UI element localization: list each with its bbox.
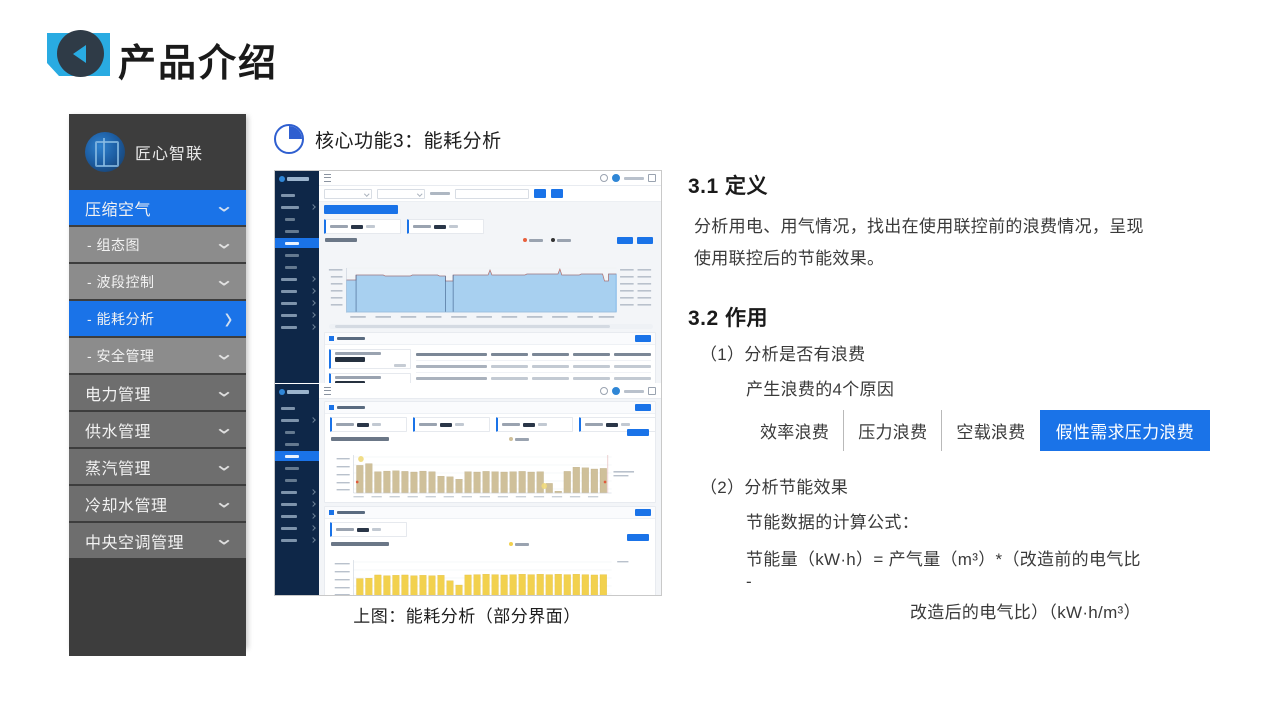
usage-item-1: （1）分析是否有浪费 xyxy=(700,340,1233,365)
pie-chart-icon xyxy=(274,124,304,154)
card-action-button[interactable] xyxy=(635,335,651,342)
product-nav-card: 匠心智联 压缩空气⌄- 组态图⌄- 波段控制⌄- 能耗分析›- 安全管理⌄电力管… xyxy=(69,114,246,647)
app-menu-item[interactable] xyxy=(275,523,319,533)
chevron-right-icon: › xyxy=(224,302,232,336)
nav-brand-label: 匠心智联 xyxy=(135,140,203,164)
tab-energy-analysis[interactable] xyxy=(324,205,398,214)
kpi-card xyxy=(324,219,401,234)
app-logo-icon xyxy=(279,176,285,182)
sidebar-item-label: - 组态图 xyxy=(87,235,140,255)
settings-icon[interactable] xyxy=(648,174,656,182)
app-sidebar-menu xyxy=(275,403,319,545)
energy-saving-card xyxy=(324,401,656,503)
table-row xyxy=(416,373,651,383)
export-button[interactable] xyxy=(551,189,563,198)
card-title-label xyxy=(337,337,365,340)
waste-reason-chips: 效率浪费压力浪费空载浪费假性需求压力浪费 xyxy=(746,410,1233,451)
hamburger-icon[interactable] xyxy=(324,174,331,182)
structure-analysis-card xyxy=(324,332,656,383)
chevron-down-icon: ⌄ xyxy=(214,196,236,215)
sidebar-item-5[interactable]: 电力管理⌄ xyxy=(69,375,246,410)
sidebar-item-label: - 安全管理 xyxy=(87,346,155,366)
sidebar-item-label: 供水管理 xyxy=(85,418,151,442)
sidebar-item-label: 压缩空气 xyxy=(85,196,151,220)
play-left-icon xyxy=(57,30,104,77)
screenshot-caption: 上图：能耗分析（部分界面） xyxy=(274,602,660,627)
usage-item-2-sub: 节能数据的计算公式： xyxy=(746,508,1233,533)
kpi-card xyxy=(329,349,411,369)
date-range-input[interactable] xyxy=(455,189,529,199)
waste-chip-3[interactable]: 假性需求压力浪费 xyxy=(1040,410,1210,451)
data-table-block xyxy=(325,345,655,383)
chevron-down-icon: ⌄ xyxy=(214,381,236,400)
kpi-row xyxy=(319,216,661,237)
power-usage-bar-chart xyxy=(331,556,649,596)
chart-title xyxy=(325,238,357,242)
app-menu-item[interactable] xyxy=(275,403,319,413)
nav-item-list: 压缩空气⌄- 组态图⌄- 波段控制⌄- 能耗分析›- 安全管理⌄电力管理⌄供水管… xyxy=(69,190,246,656)
kpi-card xyxy=(330,522,407,537)
chart-export-button[interactable] xyxy=(627,534,649,541)
usage-item-2: （2）分析节能效果 xyxy=(700,473,1233,498)
card-header xyxy=(325,402,655,414)
chart-export-button[interactable] xyxy=(627,429,649,436)
sidebar-item-label: 中央空调管理 xyxy=(85,529,184,553)
kpi-card xyxy=(496,417,573,432)
waste-chip-0[interactable]: 效率浪费 xyxy=(746,410,844,451)
app-menu-item[interactable] xyxy=(275,262,319,272)
sidebar-item-label: 蒸汽管理 xyxy=(85,455,151,479)
app-topbar xyxy=(319,171,661,186)
app-sidebar xyxy=(275,384,319,596)
app-menu-item[interactable] xyxy=(275,415,319,425)
sidebar-empty-area xyxy=(69,560,246,656)
definition-heading: 3.1 定义 xyxy=(688,170,1233,200)
card-header xyxy=(325,507,655,519)
search-icon[interactable] xyxy=(600,387,608,395)
section-heading-label: 核心功能3：能耗分析 xyxy=(315,126,502,153)
formula-line-1: 节能量（kW·h）= 产气量（m³）*（改造前的电气比 xyxy=(746,545,1233,570)
app-menu-item[interactable] xyxy=(275,214,319,224)
kpi-card xyxy=(407,219,484,234)
sidebar-item-6[interactable]: 供水管理⌄ xyxy=(69,412,246,447)
app-menu-item[interactable] xyxy=(275,298,319,308)
app-screenshot-top xyxy=(275,171,661,383)
definition-line-1: 分析用电、用气情况，找出在使用联控前的浪费情况，呈现 xyxy=(694,210,1233,244)
chevron-down-icon: ⌄ xyxy=(214,418,236,437)
nav-brand: 匠心智联 xyxy=(69,114,246,190)
app-brand-label xyxy=(287,390,309,394)
formula-line-3: 改造后的电气比）（kW·h/m³） xyxy=(910,598,1233,623)
chart-legend xyxy=(523,238,571,242)
app-sidebar-menu xyxy=(275,190,319,332)
sidebar-item-8[interactable]: 冷却水管理⌄ xyxy=(69,486,246,521)
right-content-column: 3.1 定义 分析用电、用气情况，找出在使用联控前的浪费情况，呈现 使用联控后的… xyxy=(688,170,1233,623)
sidebar-item-0[interactable]: 压缩空气⌄ xyxy=(69,190,246,225)
filter-bar xyxy=(319,186,661,202)
date-range-label xyxy=(430,192,450,195)
app-menu-item[interactable] xyxy=(275,439,319,449)
app-menu-item[interactable] xyxy=(275,226,319,236)
chart-btn-day[interactable] xyxy=(617,237,633,244)
card-action-button[interactable] xyxy=(635,404,651,411)
electric-ratio-bar-chart xyxy=(331,451,649,499)
query-button[interactable] xyxy=(534,189,546,198)
waste-chip-1[interactable]: 压力浪费 xyxy=(844,410,942,451)
app-brand-label xyxy=(287,177,309,181)
app-menu-item[interactable] xyxy=(275,511,319,521)
pressure-chart-block xyxy=(325,238,655,322)
app-main-top xyxy=(319,171,661,383)
data-table xyxy=(416,349,651,383)
table-header-row xyxy=(416,349,651,361)
waste-chip-2[interactable]: 空载浪费 xyxy=(942,410,1039,451)
app-menu-item[interactable] xyxy=(275,499,319,509)
sidebar-item-label: 电力管理 xyxy=(85,381,151,405)
sidebar-item-3[interactable]: - 能耗分析› xyxy=(69,301,246,336)
app-menu-item[interactable] xyxy=(275,322,319,332)
card-tag-icon xyxy=(329,510,334,515)
kpi-row xyxy=(325,519,655,540)
kpi-card xyxy=(329,373,411,383)
kpi-card xyxy=(413,417,490,432)
chevron-down-icon: ⌄ xyxy=(214,233,236,252)
app-menu-item[interactable] xyxy=(275,274,319,284)
chart-title xyxy=(331,437,389,441)
sidebar-item-4[interactable]: - 安全管理⌄ xyxy=(69,338,246,373)
sidebar-item-2[interactable]: - 波段控制⌄ xyxy=(69,264,246,299)
app-sidebar xyxy=(275,171,319,383)
sidebar-item-9[interactable]: 中央空调管理⌄ xyxy=(69,523,246,558)
chevron-down-icon: ⌄ xyxy=(214,529,236,548)
hamburger-icon[interactable] xyxy=(324,387,331,395)
app-topbar xyxy=(319,384,661,399)
tab-strip xyxy=(319,202,661,216)
card-tag-icon xyxy=(329,336,334,341)
avatar[interactable] xyxy=(612,174,620,182)
app-menu-item[interactable] xyxy=(275,286,319,296)
kpi-row xyxy=(325,414,655,435)
app-menu-item[interactable] xyxy=(275,487,319,497)
settings-icon[interactable] xyxy=(648,387,656,395)
app-menu-item[interactable] xyxy=(275,463,319,473)
sidebar-item-1[interactable]: - 组态图⌄ xyxy=(69,227,246,262)
chevron-down-icon: ⌄ xyxy=(214,344,236,363)
card-title-label xyxy=(337,511,365,514)
chevron-down-icon: ⌄ xyxy=(214,270,236,289)
sidebar-item-label: - 波段控制 xyxy=(87,272,155,292)
usage-item-1-sub: 产生浪费的4个原因 xyxy=(746,375,1233,400)
user-name-label xyxy=(624,390,644,393)
page-title: 产品介绍 xyxy=(118,32,278,87)
power-usage-card xyxy=(324,506,656,596)
company-select[interactable] xyxy=(324,189,372,199)
user-name-label xyxy=(624,177,644,180)
app-menu-item[interactable] xyxy=(275,535,319,545)
avatar[interactable] xyxy=(612,387,620,395)
app-screenshot-bottom xyxy=(275,383,661,596)
app-menu-item[interactable] xyxy=(275,310,319,320)
app-menu-item-active[interactable] xyxy=(275,451,319,461)
app-main-bottom xyxy=(319,384,661,596)
chevron-down-icon: ⌄ xyxy=(214,455,236,474)
section-heading: 核心功能3：能耗分析 xyxy=(274,124,502,154)
app-menu-item[interactable] xyxy=(275,202,319,212)
chevron-down-icon: ⌄ xyxy=(214,492,236,511)
device-select[interactable] xyxy=(377,189,425,199)
app-menu-item[interactable] xyxy=(275,250,319,260)
app-logo-icon xyxy=(279,389,285,395)
embedded-screenshot xyxy=(274,170,662,596)
slide-header: 产品介绍 xyxy=(0,0,1280,100)
card-title-label xyxy=(337,406,365,409)
app-menu-item[interactable] xyxy=(275,427,319,437)
formula-line-2: - xyxy=(746,572,1233,592)
app-sidebar-brand xyxy=(275,384,319,399)
app-sidebar-brand xyxy=(275,171,319,186)
usage-heading: 3.2 作用 xyxy=(688,302,1233,332)
sidebar-item-7[interactable]: 蒸汽管理⌄ xyxy=(69,449,246,484)
chart-btn-month[interactable] xyxy=(637,237,653,244)
chart-scrollbar[interactable] xyxy=(329,324,653,329)
kpi-card xyxy=(330,417,407,432)
app-menu-item[interactable] xyxy=(275,475,319,485)
electric-ratio-chart-block xyxy=(331,437,649,499)
search-icon[interactable] xyxy=(600,174,608,182)
chart-title xyxy=(331,542,389,546)
card-tag-icon xyxy=(329,405,334,410)
definition-line-2: 使用联控后的节能效果。 xyxy=(694,242,1233,276)
card-action-button[interactable] xyxy=(635,509,651,516)
sidebar-item-label: 冷却水管理 xyxy=(85,492,168,516)
power-usage-chart-block xyxy=(331,542,649,596)
app-menu-item[interactable] xyxy=(275,190,319,200)
card-header xyxy=(325,333,655,345)
pressure-area-chart xyxy=(325,260,655,322)
sidebar-item-label: - 能耗分析 xyxy=(87,309,155,329)
company-logo-icon xyxy=(85,132,125,172)
app-menu-item-active[interactable] xyxy=(275,238,319,248)
table-row xyxy=(416,361,651,373)
